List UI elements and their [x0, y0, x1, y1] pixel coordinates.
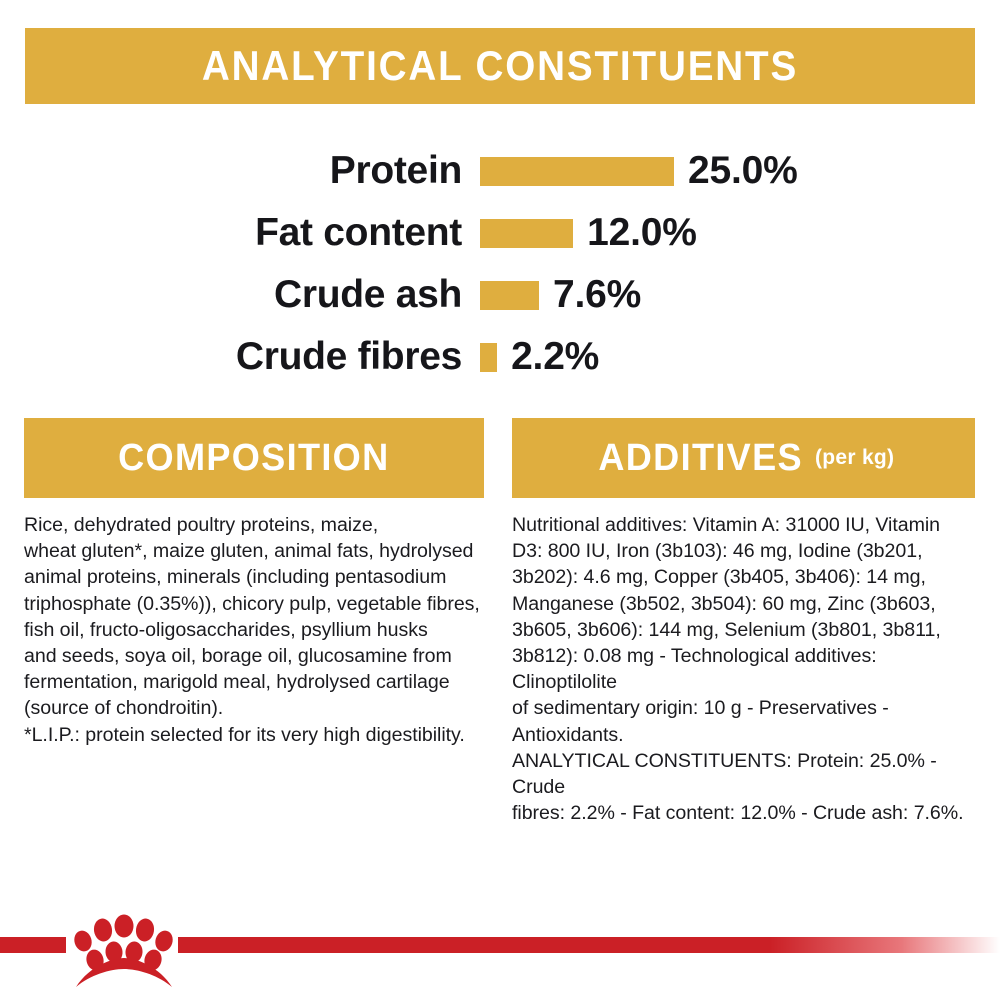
composition-banner: COMPOSITION [24, 418, 484, 498]
chart-bar [480, 157, 674, 186]
additives-text: Nutritional additives: Vitamin A: 31000 … [512, 512, 975, 826]
chart-row: Crude ash 7.6% [0, 264, 1000, 326]
footer-stripe-left [0, 937, 66, 953]
chart-category-label: Crude fibres [0, 335, 480, 379]
footer-stripe-right [178, 937, 1000, 953]
chart-bar-group: 12.0% [480, 211, 697, 255]
chart-bar [480, 219, 573, 248]
brand-footer [0, 890, 1000, 1000]
chart-value-label: 25.0% [674, 149, 798, 193]
chart-value-label: 2.2% [497, 335, 599, 379]
chart-category-label: Protein [0, 149, 480, 193]
additives-heading: ADDITIVES [598, 437, 803, 480]
composition-text: Rice, dehydrated poultry proteins, maize… [24, 512, 484, 748]
chart-value-label: 7.6% [539, 273, 641, 317]
chart-bar-group: 25.0% [480, 149, 798, 193]
info-columns: COMPOSITION Rice, dehydrated poultry pro… [0, 418, 1000, 826]
page-title: ANALYTICAL CONSTITUENTS [202, 42, 798, 90]
chart-bar [480, 281, 539, 310]
chart-value-label: 12.0% [573, 211, 697, 255]
additives-subheading: (per kg) [815, 446, 894, 470]
chart-category-label: Fat content [0, 211, 480, 255]
additives-section: ADDITIVES (per kg) Nutritional additives… [512, 418, 975, 826]
chart-bar [480, 343, 497, 372]
chart-row: Crude fibres 2.2% [0, 326, 1000, 388]
analytical-constituents-chart: Protein 25.0% Fat content 12.0% Crude as… [0, 140, 1000, 388]
composition-heading: COMPOSITION [118, 437, 389, 480]
additives-banner: ADDITIVES (per kg) [512, 418, 975, 498]
composition-section: COMPOSITION Rice, dehydrated poultry pro… [24, 418, 484, 826]
analytical-constituents-banner: ANALYTICAL CONSTITUENTS [25, 28, 975, 104]
chart-row: Protein 25.0% [0, 140, 1000, 202]
chart-category-label: Crude ash [0, 273, 480, 317]
chart-row: Fat content 12.0% [0, 202, 1000, 264]
chart-bar-group: 2.2% [480, 335, 599, 379]
royal-canin-crown-paw-logo-icon [66, 908, 178, 990]
chart-bar-group: 7.6% [480, 273, 641, 317]
